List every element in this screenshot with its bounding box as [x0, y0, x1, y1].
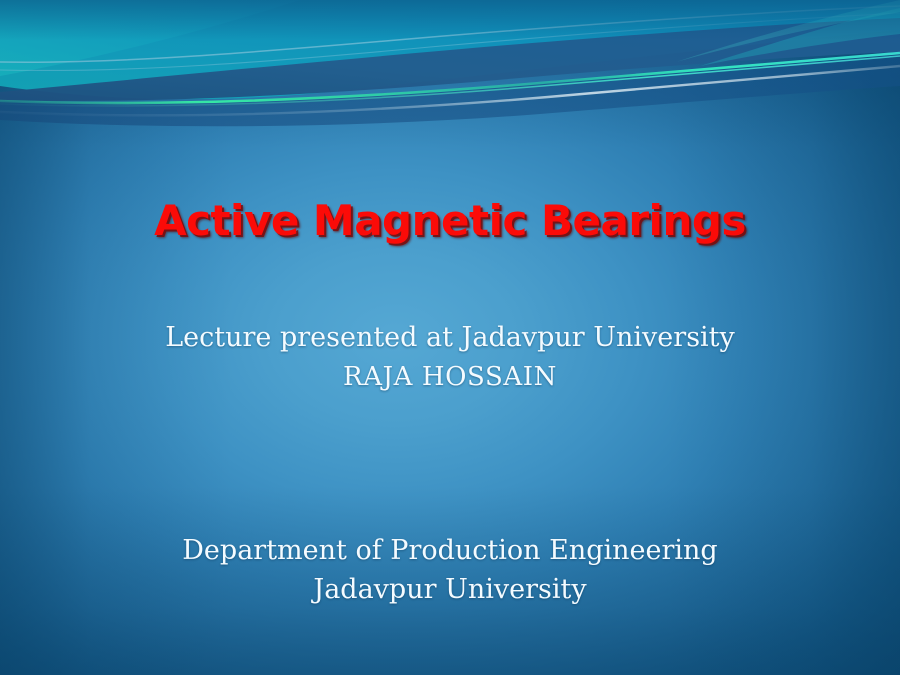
subtitle-line-lecture: Lecture presented at Jadavpur University	[0, 318, 900, 358]
presentation-slide: Active Magnetic Bearings Lecture present…	[0, 0, 900, 675]
slide-title: Active Magnetic Bearings	[0, 196, 900, 245]
footer-line-university: Jadavpur University	[0, 570, 900, 609]
slide-subtitle: Lecture presented at Jadavpur University…	[0, 318, 900, 396]
slide-content: Active Magnetic Bearings Lecture present…	[0, 0, 900, 675]
subtitle-line-presenter: RAJA HOSSAIN	[0, 358, 900, 396]
footer-line-department: Department of Production Engineering	[0, 531, 900, 570]
slide-footer: Department of Production Engineering Jad…	[0, 531, 900, 609]
